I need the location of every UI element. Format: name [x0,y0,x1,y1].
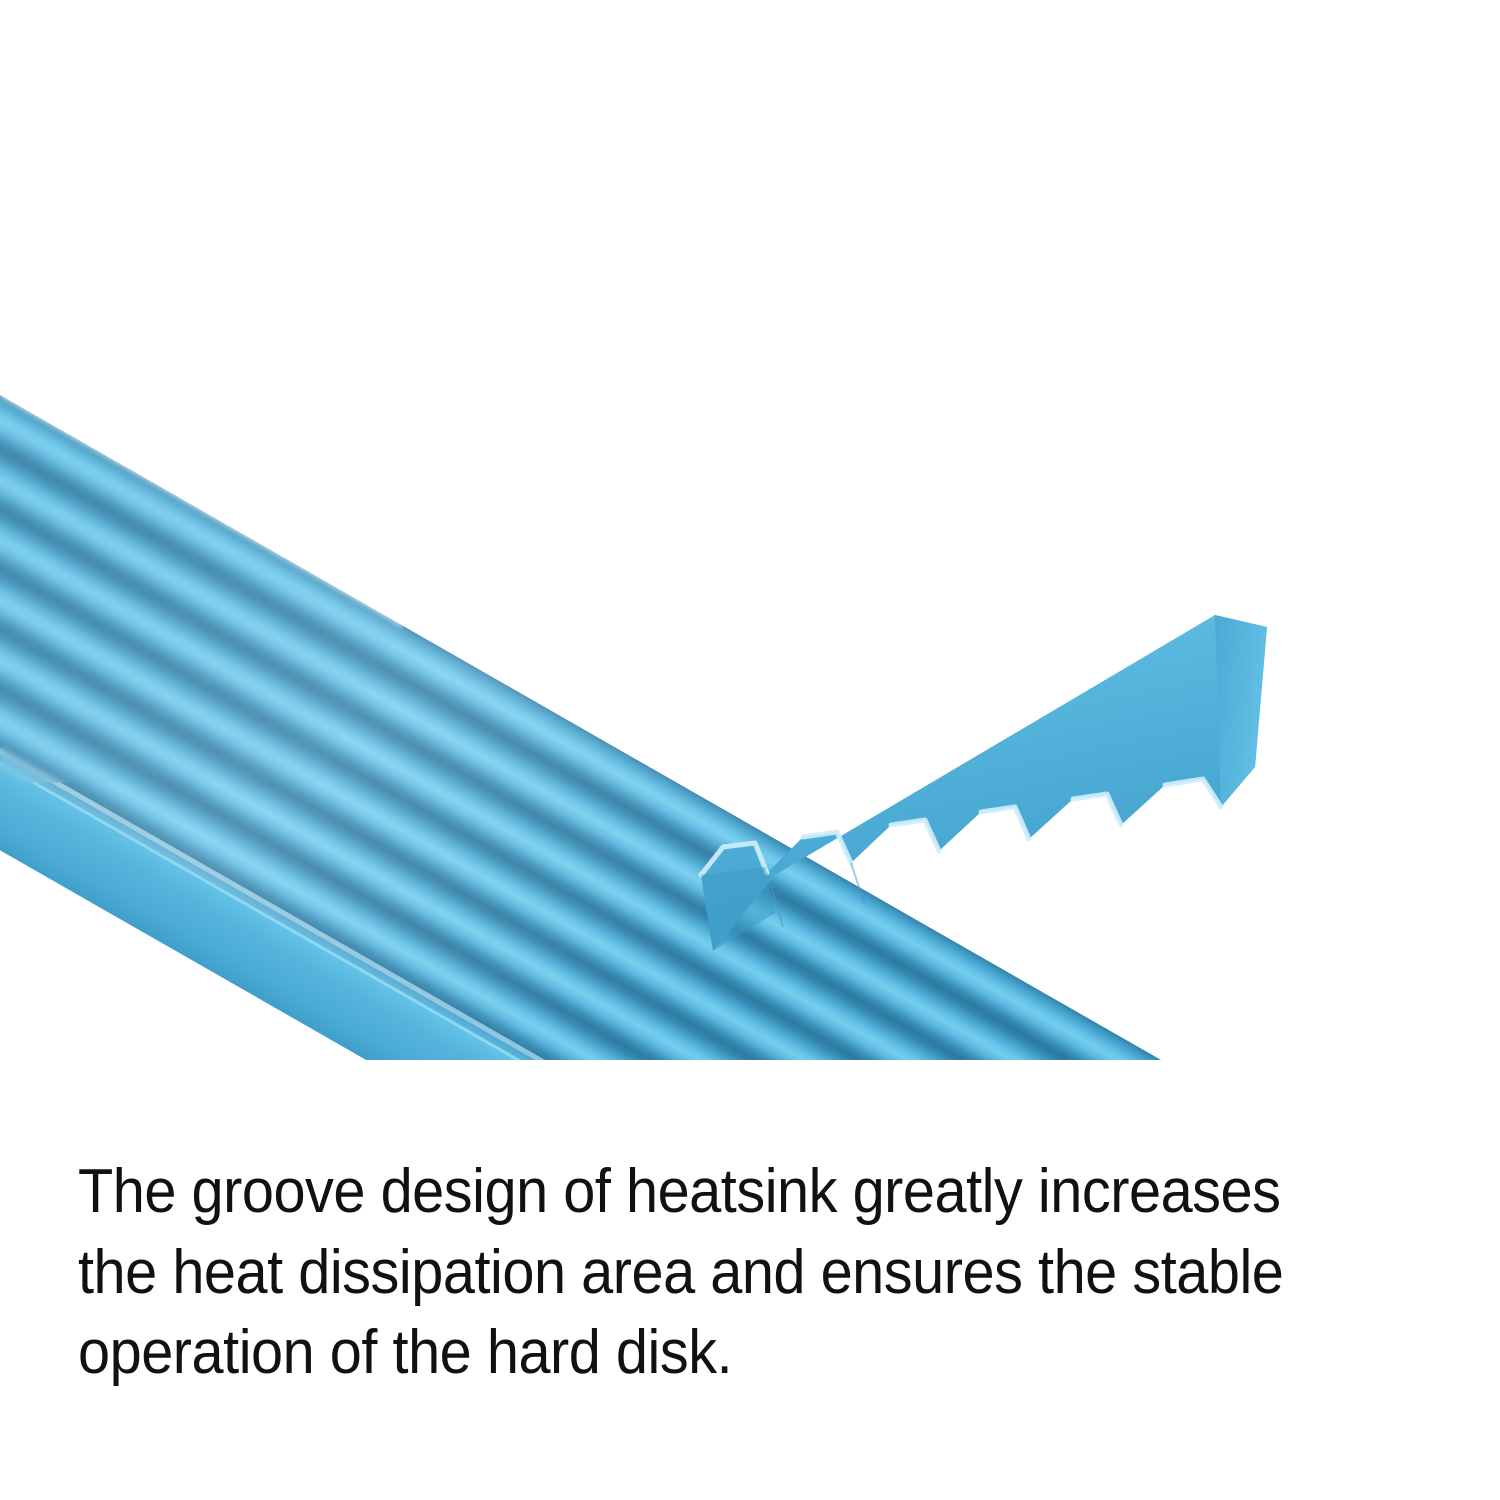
product-photo [0,0,1500,1060]
product-caption: The groove design of heatsink greatly in… [78,1152,1329,1394]
product-image-page: The groove design of heatsink greatly in… [0,0,1500,1500]
heatsink-bar [0,40,1341,1060]
